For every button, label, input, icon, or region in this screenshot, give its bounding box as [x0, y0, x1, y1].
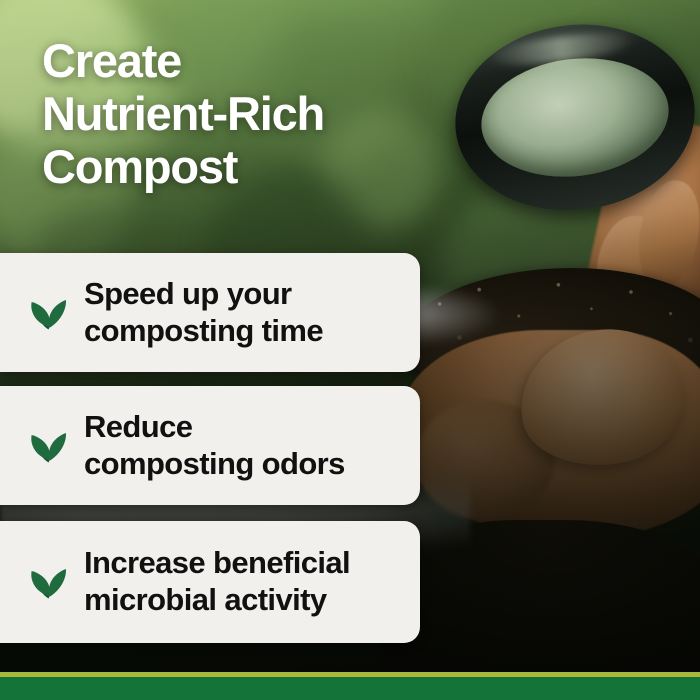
benefit-line-2: composting time — [84, 313, 323, 350]
benefit-card: Reduce composting odors — [0, 386, 420, 505]
benefit-line-1: Speed up your — [84, 276, 323, 313]
benefit-text: Speed up your composting time — [84, 276, 323, 349]
leaf-sprout-icon — [26, 426, 72, 466]
footer-bar — [0, 677, 700, 700]
benefit-card: Increase beneficial microbial activity — [0, 521, 420, 643]
title-line-2: Nutrient-Rich — [42, 87, 462, 140]
benefit-line-1: Reduce — [84, 409, 345, 446]
benefit-line-1: Increase beneficial — [84, 545, 350, 582]
page-title: Create Nutrient-Rich Compost — [42, 34, 462, 193]
title-line-3: Compost — [42, 140, 462, 193]
benefit-line-2: composting odors — [84, 446, 345, 483]
leaf-sprout-icon — [26, 293, 72, 333]
benefit-text: Increase beneficial microbial activity — [84, 545, 350, 618]
title-line-1: Create — [42, 34, 462, 87]
promo-graphic: Create Nutrient-Rich Compost Speed up yo… — [0, 0, 700, 700]
benefit-card: Speed up your composting time — [0, 253, 420, 372]
leaf-sprout-icon — [26, 562, 72, 602]
benefit-text: Reduce composting odors — [84, 409, 345, 482]
benefit-line-2: microbial activity — [84, 582, 350, 619]
